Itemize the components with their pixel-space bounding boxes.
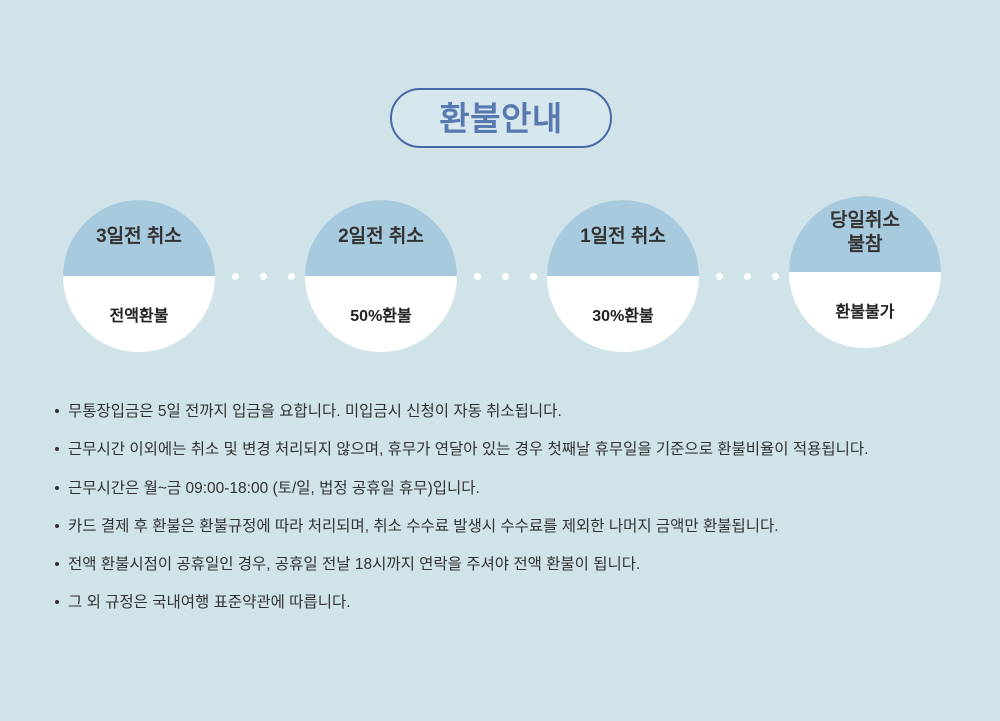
refund-step-4-top-half: 당일취소 불참 <box>789 196 941 272</box>
page-title: 환불안내 <box>439 102 562 135</box>
connector-dot <box>744 273 751 280</box>
refund-step-circle-2: 2일전 취소 50%환불 <box>305 200 457 352</box>
policy-note-text: 그 외 규정은 국내여행 표준약관에 따릅니다. <box>68 591 955 614</box>
bullet-icon <box>55 447 59 451</box>
step-connector-1 <box>232 273 295 280</box>
refund-step-2-bottom-half: 50%환불 <box>305 276 457 352</box>
step-connector-3 <box>716 273 779 280</box>
connector-dot <box>502 273 509 280</box>
policy-note-item: 그 외 규정은 국내여행 표준약관에 따릅니다. <box>55 591 955 614</box>
policy-note-text: 무통장입금은 5일 전까지 입금을 요합니다. 미입금시 신청이 자동 취소됩니… <box>68 400 955 423</box>
refund-step-circle-3: 1일전 취소 30%환불 <box>547 200 699 352</box>
refund-step-1-timing-label: 3일전 취소 <box>96 225 182 249</box>
policy-note-text: 근무시간 이외에는 취소 및 변경 처리되지 않으며, 휴무가 연달아 있는 경… <box>68 438 955 461</box>
connector-dot <box>474 273 481 280</box>
bullet-icon <box>55 524 59 528</box>
connector-dot <box>260 273 267 280</box>
refund-step-3-top-half: 1일전 취소 <box>547 200 699 276</box>
policy-note-item: 무통장입금은 5일 전까지 입금을 요합니다. 미입금시 신청이 자동 취소됩니… <box>55 400 955 423</box>
policy-note-item: 근무시간은 월~금 09:00-18:00 (토/일, 법정 공휴일 휴무)입니… <box>55 477 955 500</box>
refund-step-4-timing-label: 당일취소 불참 <box>830 209 900 256</box>
policy-note-item: 카드 결제 후 환불은 환불규정에 따라 처리되며, 취소 수수료 발생시 수수… <box>55 515 955 538</box>
refund-step-3-bottom-half: 30%환불 <box>547 276 699 352</box>
refund-step-2-timing-label: 2일전 취소 <box>338 225 424 249</box>
connector-dot <box>716 273 723 280</box>
refund-step-1-amount-label: 전액환불 <box>110 307 169 326</box>
refund-step-1-bottom-half: 전액환불 <box>63 276 215 352</box>
bullet-icon <box>55 409 59 413</box>
connector-dot <box>530 273 537 280</box>
connector-dot <box>232 273 239 280</box>
page-title-badge: 환불안내 <box>390 88 612 148</box>
bullet-icon <box>55 600 59 604</box>
policy-note-text: 전액 환불시점이 공휴일인 경우, 공휴일 전날 18시까지 연락을 주셔야 전… <box>68 553 955 576</box>
policy-notes-list: 무통장입금은 5일 전까지 입금을 요합니다. 미입금시 신청이 자동 취소됩니… <box>55 400 955 615</box>
refund-step-4-amount-label: 환불불가 <box>836 303 895 322</box>
bullet-icon <box>55 562 59 566</box>
refund-step-2-top-half: 2일전 취소 <box>305 200 457 276</box>
refund-step-4-bottom-half: 환불불가 <box>789 272 941 348</box>
policy-note-item: 근무시간 이외에는 취소 및 변경 처리되지 않으며, 휴무가 연달아 있는 경… <box>55 438 955 461</box>
refund-step-circle-4: 당일취소 불참 환불불가 <box>789 196 941 348</box>
policy-note-text: 근무시간은 월~금 09:00-18:00 (토/일, 법정 공휴일 휴무)입니… <box>68 477 955 500</box>
refund-step-2-amount-label: 50%환불 <box>350 307 411 326</box>
policy-note-item: 전액 환불시점이 공휴일인 경우, 공휴일 전날 18시까지 연락을 주셔야 전… <box>55 553 955 576</box>
step-connector-2 <box>474 273 537 280</box>
refund-step-3-amount-label: 30%환불 <box>592 307 653 326</box>
refund-step-circle-1: 3일전 취소 전액환불 <box>63 200 215 352</box>
refund-step-3-timing-label: 1일전 취소 <box>580 225 666 249</box>
policy-note-text: 카드 결제 후 환불은 환불규정에 따라 처리되며, 취소 수수료 발생시 수수… <box>68 515 955 538</box>
bullet-icon <box>55 486 59 490</box>
connector-dot <box>288 273 295 280</box>
refund-step-1-top-half: 3일전 취소 <box>63 200 215 276</box>
connector-dot <box>772 273 779 280</box>
